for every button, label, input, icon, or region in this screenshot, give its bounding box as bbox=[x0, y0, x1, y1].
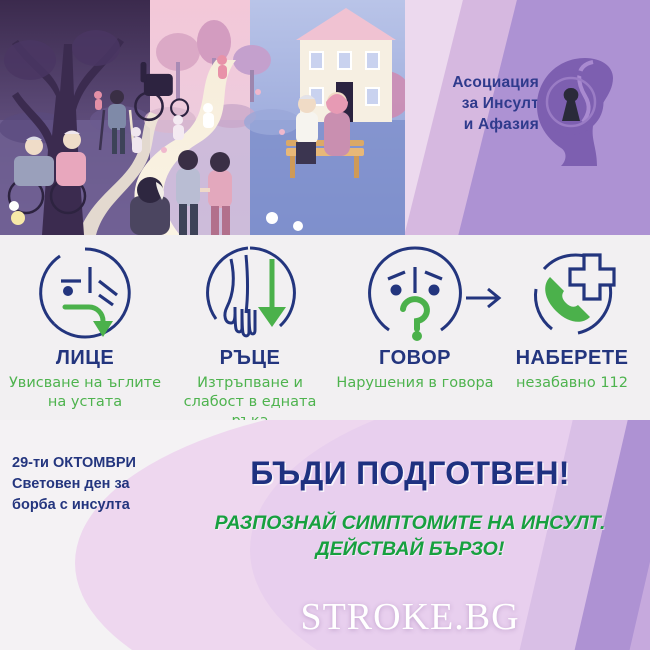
subheadline-line-1: РАЗПОЗНАЙ СИМПТОМИТЕ НА ИНСУЛТ. bbox=[170, 510, 650, 536]
hero-section: Асоциация за Инсулт и Афазия bbox=[0, 0, 650, 235]
day-line-1: 29-ти ОКТОМВРИ bbox=[12, 453, 162, 474]
subheadline-line-2: ДЕЙСТВАЙ БЪРЗО! bbox=[170, 536, 650, 562]
symptom-arm-title: РЪЦЕ bbox=[170, 347, 330, 370]
world-stroke-day-note: 29-ти ОКТОМВРИ Световен ден за борба с и… bbox=[12, 453, 162, 516]
symptom-speech-desc: Нарушения в говора bbox=[335, 374, 495, 393]
symptom-face-desc: Увисване на ъглите на устата bbox=[5, 374, 165, 412]
emergency-phone-icon bbox=[522, 243, 622, 343]
logo-line-2: за Инсулт bbox=[419, 93, 539, 114]
fast-symptoms-row: ЛИЦЕ Увисване на ъглите на устата РЪЦЕ И bbox=[0, 235, 650, 420]
weak-arm-icon bbox=[200, 243, 300, 343]
subheadline: РАЗПОЗНАЙ СИМПТОМИТЕ НА ИНСУЛТ. ДЕЙСТВАЙ… bbox=[170, 510, 650, 562]
drooping-face-icon bbox=[35, 243, 135, 343]
logo-panel: Асоциация за Инсулт и Афазия bbox=[405, 0, 650, 235]
confused-speech-face-icon bbox=[365, 243, 465, 343]
day-line-3: борба с инсулта bbox=[12, 495, 162, 516]
day-line-2: Световен ден за bbox=[12, 474, 162, 495]
symptom-arm: РЪЦЕ Изтръпване и слабост в едната ръка bbox=[170, 243, 330, 431]
head-keyhole-icon bbox=[527, 52, 627, 167]
bottom-section: 29-ти ОКТОМВРИ Световен ден за борба с и… bbox=[0, 420, 650, 650]
symptom-speech-title: ГОВОР bbox=[335, 347, 495, 370]
symptom-call: НАБЕРЕТЕ незабавно 112 bbox=[492, 243, 650, 393]
symptom-call-desc: незабавно 112 bbox=[492, 374, 650, 393]
logo-wordmark: Асоциация за Инсулт и Афазия bbox=[419, 72, 539, 135]
symptom-face-title: ЛИЦЕ bbox=[5, 347, 165, 370]
poster-root: Асоциация за Инсулт и Афазия bbox=[0, 0, 650, 650]
logo-line-3: и Афазия bbox=[419, 114, 539, 135]
hero-illustration bbox=[0, 0, 408, 235]
headline: БЪДИ ПОДГОТВЕН! bbox=[180, 455, 640, 492]
symptom-speech: ГОВОР Нарушения в говора bbox=[335, 243, 495, 393]
symptom-call-title: НАБЕРЕТЕ bbox=[492, 347, 650, 370]
brand-wordmark: STROKE.BG bbox=[170, 595, 650, 639]
symptom-face: ЛИЦЕ Увисване на ъглите на устата bbox=[5, 243, 165, 412]
logo-line-1: Асоциация bbox=[419, 72, 539, 93]
